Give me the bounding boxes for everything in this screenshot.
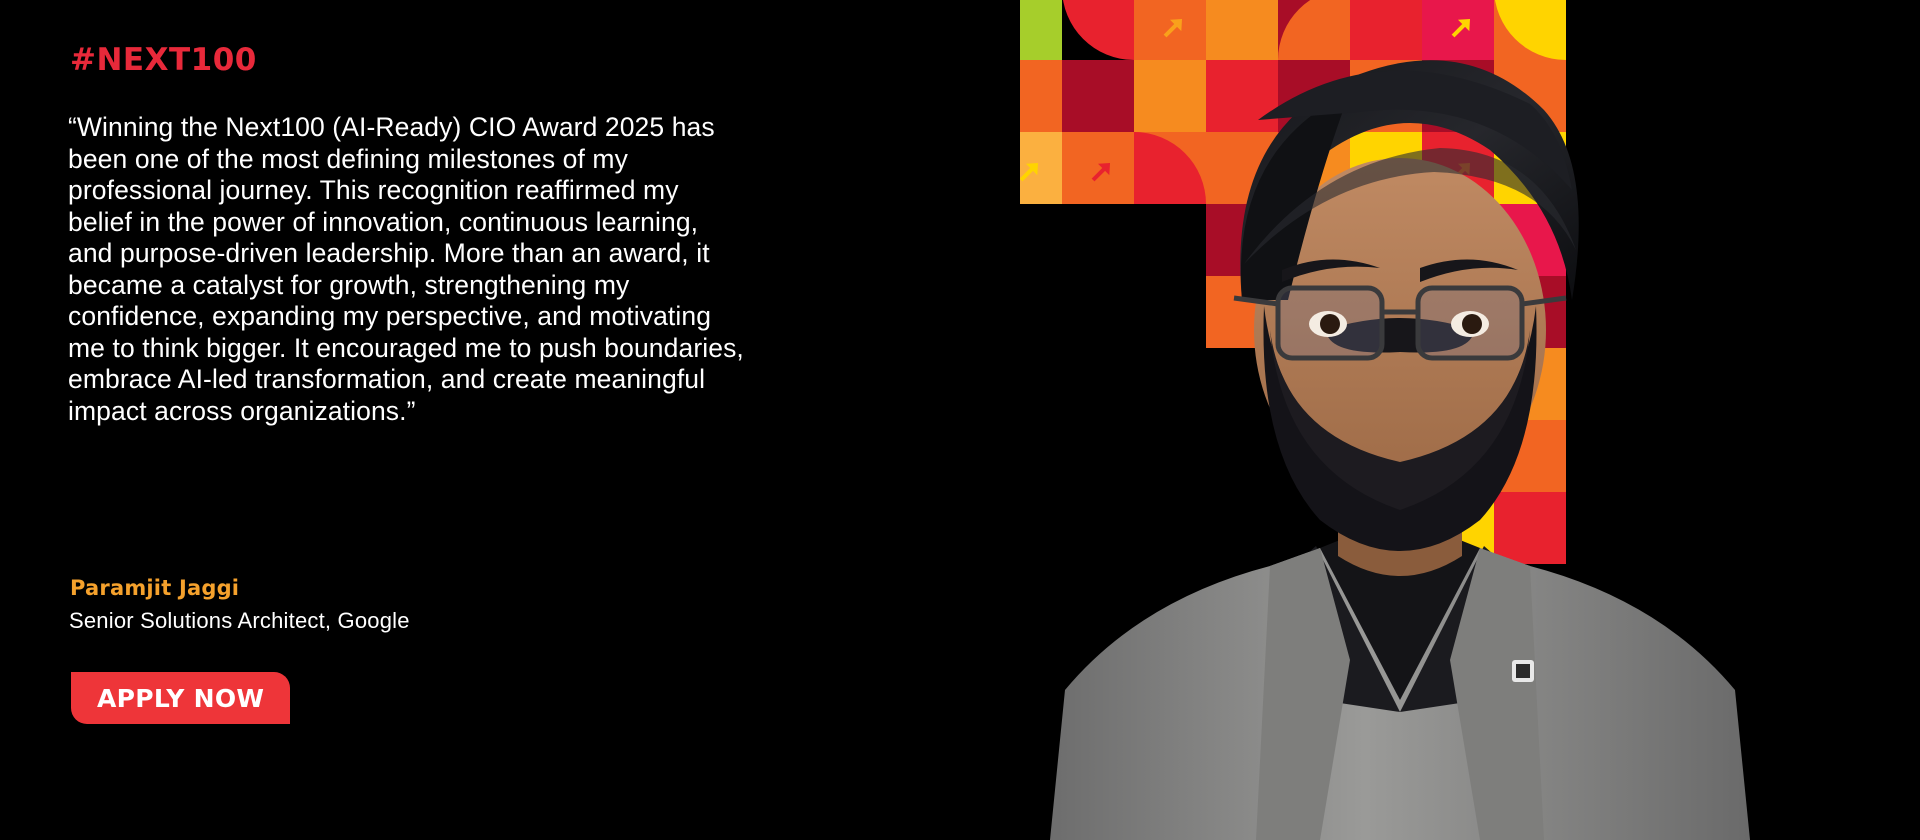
author-role: Senior Solutions Architect, Google (69, 608, 410, 634)
portrait-photo (1020, 0, 1920, 840)
quote-line: belief in the power of innovation, conti… (68, 207, 828, 239)
apply-now-button[interactable]: APPLY NOW (71, 672, 290, 724)
quote-line: me to think bigger. It encouraged me to … (68, 333, 828, 365)
copy-column: #NEXT100 “Winning the Next100 (AI-Ready)… (68, 0, 858, 840)
quote-line: been one of the most defining milestones… (68, 144, 828, 176)
page-title: #NEXT100 (70, 42, 257, 78)
testimonial-quote: “Winning the Next100 (AI-Ready) CIO Awar… (68, 112, 828, 427)
author-name: Paramjit Jaggi (70, 576, 239, 600)
quote-line: and purpose-driven leadership. More than… (68, 238, 828, 270)
quote-line: “Winning the Next100 (AI-Ready) CIO Awar… (68, 112, 828, 144)
testimonial-banner: #NEXT100 “Winning the Next100 (AI-Ready)… (0, 0, 1920, 840)
quote-line: impact across organizations.” (68, 396, 828, 428)
quote-line: embrace AI-led transformation, and creat… (68, 364, 828, 396)
artwork-panel (1020, 0, 1920, 840)
quote-line: became a catalyst for growth, strengthen… (68, 270, 828, 302)
quote-line: professional journey. This recognition r… (68, 175, 828, 207)
quote-line: confidence, expanding my perspective, an… (68, 301, 828, 333)
